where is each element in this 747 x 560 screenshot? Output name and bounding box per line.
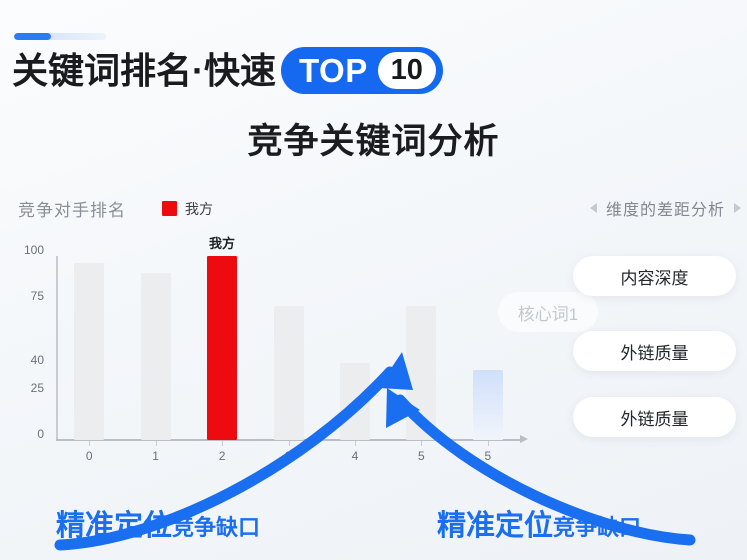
x-axis-tick: 5 [484,449,491,463]
chart-header-right: 维度的差距分析 [590,196,741,220]
chevron-right-icon[interactable] [734,203,741,213]
caption-left-big: 精准定位 [56,502,172,544]
caption-right-small: 竞争缺口 [553,510,641,542]
legend-label-mine: 我方 [185,199,213,219]
caption-left: 精准定位 竞争缺口 [56,502,260,544]
keyword-pill-core[interactable]: 核心词1 [498,292,598,332]
y-axis-tick: 100 [24,243,44,257]
accent-progress-bar [14,33,106,40]
dimension-pill-backlink-quality-1[interactable]: 外链质量 [573,331,736,371]
x-axis-tick-mark [156,441,157,446]
x-axis-tick-mark [222,441,223,446]
x-axis-tick: 1 [152,449,159,463]
page-title: 关键词排名·快速 [12,42,276,100]
dimension-gap-title: 维度的差距分析 [606,196,725,220]
top-badge-number: 10 [378,52,436,89]
x-axis-tick: 0 [86,449,93,463]
dimension-pill-backlink-quality-2[interactable]: 外链质量 [573,397,736,437]
chevron-left-icon[interactable] [590,203,597,213]
page-title-text: 关键词排名·快速 [12,53,276,89]
slide-canvas: 关键词排名·快速 TOP 10 竞争关键词分析 竞争对手排名 我方 维度的差距分… [0,0,747,560]
y-axis-tick: 25 [31,381,44,395]
bar-competitor [406,306,436,440]
dimension-pill-content-depth[interactable]: 内容深度 [573,256,736,296]
y-axis: 1007540250 [14,250,50,440]
keyword-pill-core-label: 核心词1 [518,300,578,325]
dimension-pill-backlink-quality-1-label: 外链质量 [621,339,689,364]
bar-annotation-mine: 我方 [209,233,235,252]
page-subtitle: 竞争关键词分析 [0,113,747,164]
x-axis-tick-mark [421,441,422,446]
x-axis-tick: 2 [219,449,226,463]
bar-competitor [74,263,104,440]
dimension-pill-backlink-quality-2-label: 外链质量 [621,405,689,430]
caption-right: 精准定位 竞争缺口 [437,502,641,544]
caption-left-small: 竞争缺口 [172,510,260,542]
x-axis-tick-mark [355,441,356,446]
chart-legend: 我方 [162,199,213,219]
legend-swatch-mine [162,201,177,216]
x-axis: 0123455 [56,441,521,467]
top-rank-badge: TOP 10 [281,47,443,94]
bar-highlight [473,370,503,440]
chart-title: 竞争对手排名 [18,196,126,221]
bar-competitor [274,306,304,440]
caption-right-big: 精准定位 [437,502,553,544]
chart-header-left: 竞争对手排名 我方 [18,196,213,221]
x-axis-tick-mark [488,441,489,446]
bar-competitor [141,273,171,440]
bar-mine [207,256,237,440]
x-axis-tick: 3 [285,449,292,463]
dimension-pill-content-depth-label: 内容深度 [621,264,689,289]
x-axis-tick-mark [289,441,290,446]
x-axis-arrow-icon [520,435,528,443]
x-axis-tick-mark [89,441,90,446]
chart-plot-area: 我方 [56,256,521,440]
y-axis-tick: 40 [31,353,44,367]
top-badge-word: TOP [299,54,378,87]
y-axis-tick: 0 [37,427,44,441]
bar-competitor [340,363,370,440]
x-axis-tick: 5 [418,449,425,463]
x-axis-tick: 4 [352,449,359,463]
y-axis-tick: 75 [31,289,44,303]
accent-progress-fill [14,33,51,40]
bar-chart: 1007540250 我方 0123455 [14,250,544,465]
